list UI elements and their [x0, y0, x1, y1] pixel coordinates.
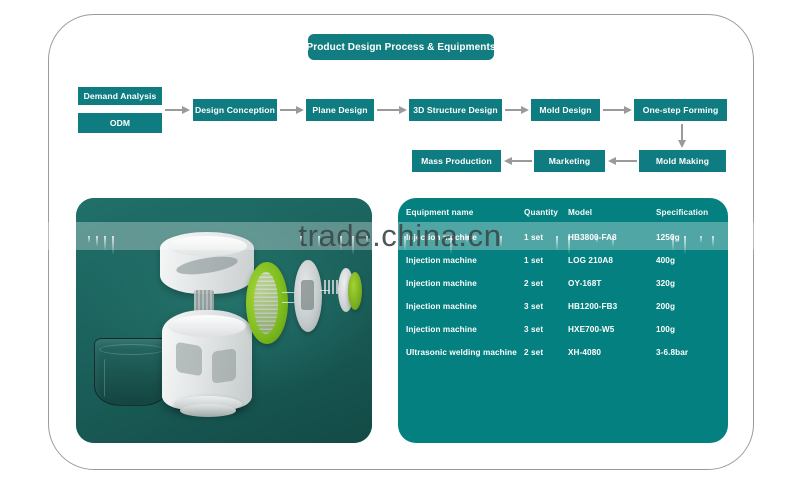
page-title-banner: Product Design Process & Equipments [308, 34, 494, 60]
cell-name: Injection machine [398, 325, 524, 334]
equipment-table: Equipment name Quantity Model Specificat… [398, 198, 728, 364]
flow-box-label: One-step Forming [643, 105, 719, 115]
cell-quantity: 3 set [524, 325, 568, 334]
watermark-right: W [765, 214, 796, 251]
flow-box-label: Marketing [549, 156, 591, 166]
flow-box-marketing[interactable]: Marketing [534, 150, 605, 172]
flow-box-demand-analysis[interactable]: Demand Analysis [78, 87, 162, 105]
arrow-right-icon [165, 105, 190, 115]
product-image-panel [76, 198, 372, 443]
flow-box-label: Mold Making [656, 156, 709, 166]
flow-box-mold-design[interactable]: Mold Design [531, 99, 600, 121]
product-exploded-view-illustration [76, 198, 372, 443]
product-part-upper-housing [160, 232, 254, 294]
page-title: Product Design Process & Equipments [306, 42, 495, 53]
cell-quantity: 2 set [524, 348, 568, 357]
arrow-left-icon [504, 156, 532, 166]
table-header-row: Equipment name Quantity Model Specificat… [398, 198, 728, 226]
flow-box-3d-structure-design[interactable]: 3D Structure Design [409, 99, 502, 121]
screenshot-root: Product Design Process & Equipments Dema… [0, 0, 800, 494]
table-row: Injection machine 1 set LOG 210A8 400g [398, 249, 728, 272]
cell-specification: 320g [656, 279, 720, 288]
product-part-connector [320, 290, 330, 291]
product-part-window [176, 342, 202, 377]
column-header-model: Model [568, 208, 656, 217]
arrow-left-icon [608, 156, 637, 166]
arrow-down-icon [677, 124, 687, 148]
product-part-green-knob [348, 272, 362, 310]
column-header-quantity: Quantity [524, 208, 568, 217]
equipment-table-panel: Equipment name Quantity Model Specificat… [398, 198, 728, 443]
product-part-lower-housing [162, 310, 252, 410]
cell-model: XH-4080 [568, 348, 656, 357]
cell-name: Injection machine [398, 279, 524, 288]
flow-box-label: Mass Production [421, 156, 492, 166]
flow-box-label: Demand Analysis [84, 91, 157, 101]
flow-box-plane-design[interactable]: Plane Design [306, 99, 374, 121]
arrow-right-icon [603, 105, 632, 115]
product-part-base-ring [180, 404, 236, 417]
product-part-disc-hub [254, 272, 278, 334]
cell-specification: 1250g [656, 233, 720, 242]
flow-box-label: Mold Design [539, 105, 591, 115]
arrow-right-icon [280, 105, 304, 115]
watermark-drip [756, 236, 758, 255]
cell-model: OY-168T [568, 279, 656, 288]
product-part-jar [94, 338, 169, 406]
cell-quantity: 2 set [524, 279, 568, 288]
cell-model: HB1200-FB3 [568, 302, 656, 311]
flow-box-design-conception[interactable]: Design Conception [193, 99, 277, 121]
arrow-right-icon [377, 105, 407, 115]
flow-box-mold-making[interactable]: Mold Making [639, 150, 726, 172]
table-row: Ultrasonic welding machine 2 set XH-4080… [398, 341, 728, 364]
flow-box-label: Plane Design [312, 105, 367, 115]
cell-name: Injection machine [398, 302, 524, 311]
cell-model: HB3800-FA3 [568, 233, 656, 242]
flow-box-label: Design Conception [195, 105, 275, 115]
flow-box-one-step-forming[interactable]: One-step Forming [634, 99, 727, 121]
flow-box-label: 3D Structure Design [413, 105, 498, 115]
cell-name: Ultrasonic welding machine [398, 348, 524, 357]
cell-name: Injection machine [398, 256, 524, 265]
product-part-window [212, 348, 236, 383]
watermark-left: W [4, 214, 35, 251]
cell-model: HXE700-W5 [568, 325, 656, 334]
flow-box-odm[interactable]: ODM [78, 113, 162, 133]
cell-specification: 3-6.8bar [656, 348, 720, 357]
flow-box-mass-production[interactable]: Mass Production [412, 150, 501, 172]
cell-quantity: 1 set [524, 233, 568, 242]
table-row: Injection machine 2 set OY-168T 320g [398, 272, 728, 295]
product-part-gray-disc [294, 260, 322, 332]
arrow-right-icon [505, 105, 529, 115]
table-row: Injection machine 3 set HXE700-W5 100g [398, 318, 728, 341]
cell-specification: 400g [656, 256, 720, 265]
cell-name: Injection machine [398, 233, 524, 242]
table-row: Injection machine 3 set HB1200-FB3 200g [398, 295, 728, 318]
cell-specification: 100g [656, 325, 720, 334]
column-header-name: Equipment name [398, 208, 524, 217]
cell-model: LOG 210A8 [568, 256, 656, 265]
cell-quantity: 1 set [524, 256, 568, 265]
cell-specification: 200g [656, 302, 720, 311]
flow-box-label: ODM [110, 118, 130, 128]
table-row: Injection machine 1 set HB3800-FA3 1250g [398, 226, 728, 249]
column-header-specification: Specification [656, 208, 720, 217]
cell-quantity: 3 set [524, 302, 568, 311]
